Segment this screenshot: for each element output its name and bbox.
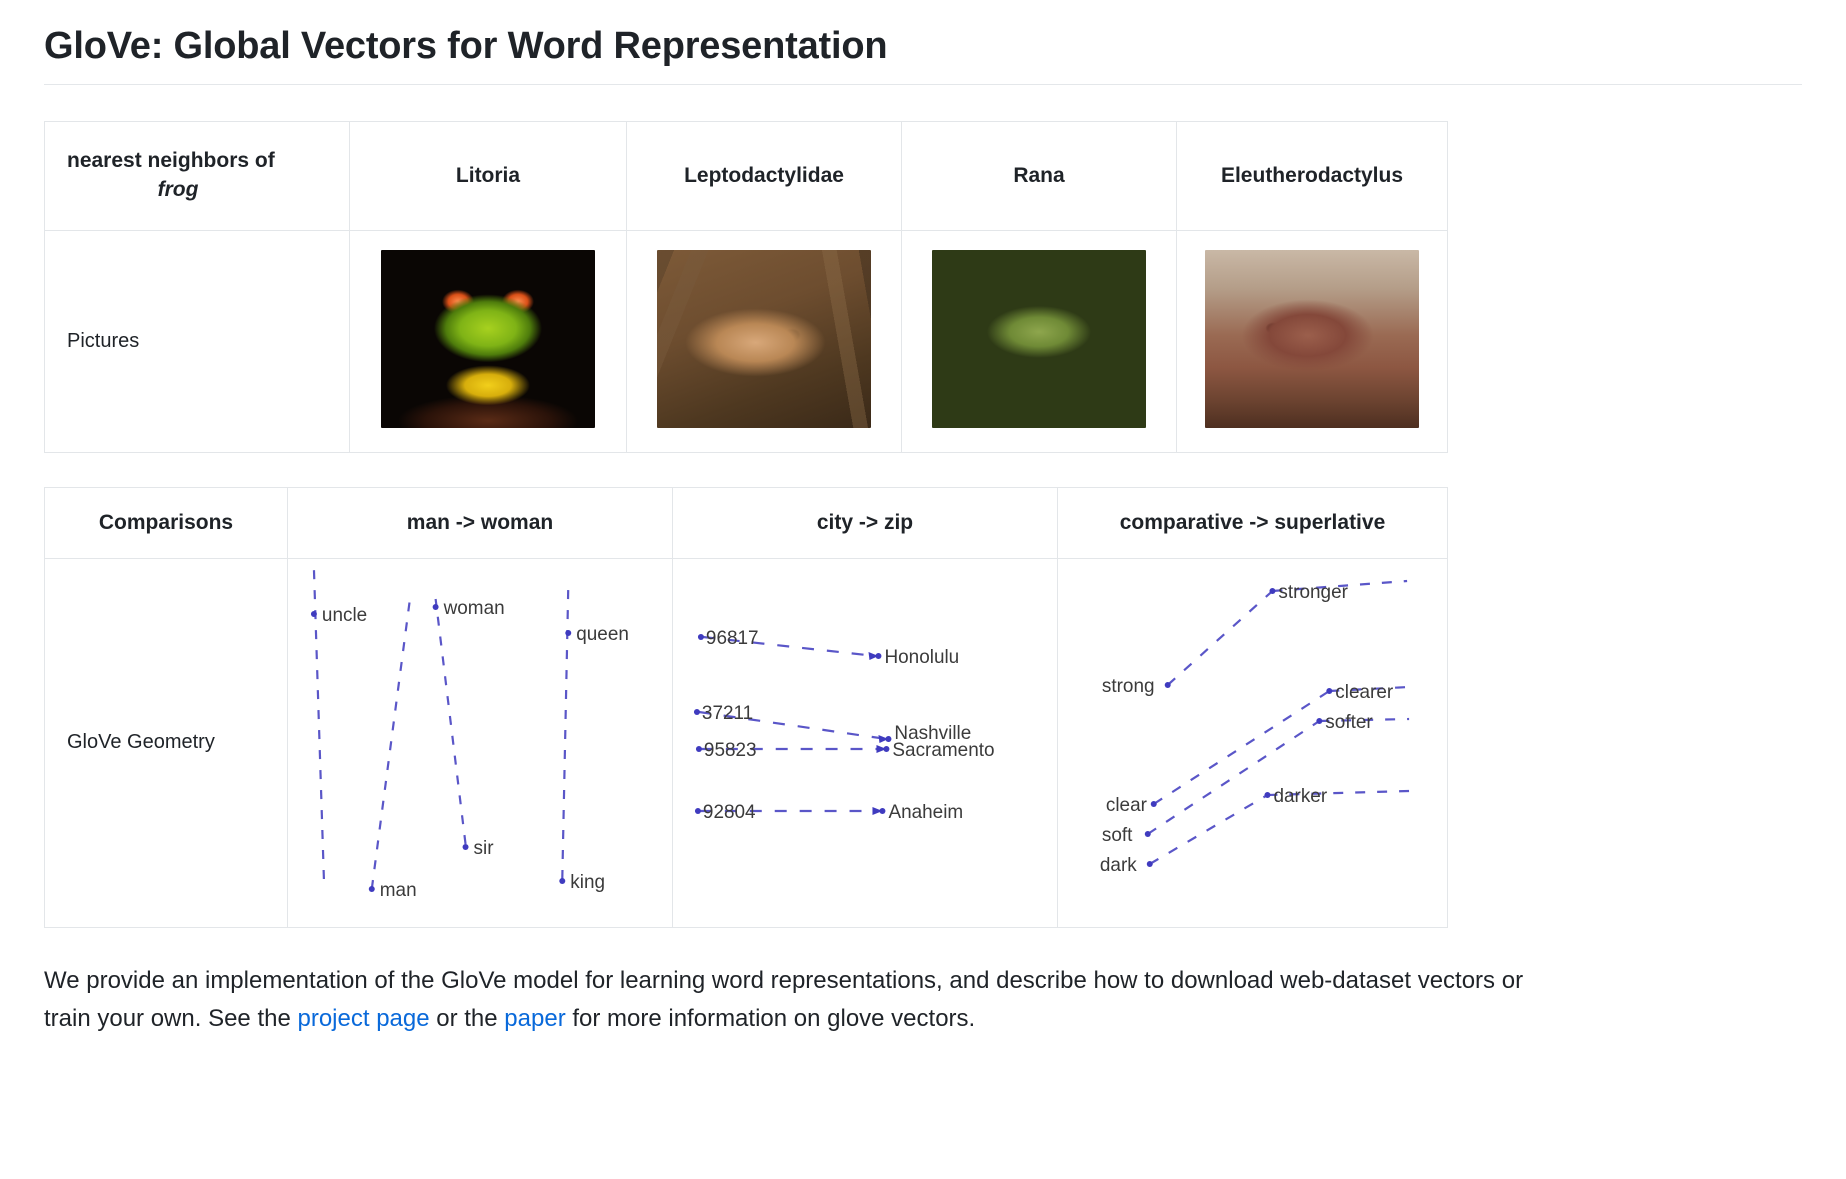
- project-page-link[interactable]: project page: [297, 1005, 429, 1032]
- label-zip-92804: 92804: [703, 802, 756, 823]
- page-container: GloVe: Global Vectors for Word Represent…: [0, 0, 1846, 1039]
- query-word-frog: frog: [67, 176, 339, 204]
- comparisons-header: Comparisons: [45, 487, 288, 558]
- column-header-comparative-superlative: comparative -> superlative: [1058, 487, 1448, 558]
- comparative-superlative-labels: stronger strong clearer softer clear sof…: [1100, 582, 1393, 876]
- table-row: Pictures: [45, 230, 1448, 452]
- label-city-anaheim: Anaheim: [888, 802, 963, 823]
- table-row: GloVe Geometry: [45, 558, 1448, 927]
- nearest-neighbors-label: nearest neighbors of: [67, 149, 275, 172]
- column-header-leptodactylidae: Leptodactylidae: [627, 121, 902, 230]
- label-uncle: uncle: [322, 605, 367, 626]
- man-woman-labels: uncle woman queen sir man king: [322, 598, 629, 901]
- row-label-pictures: Pictures: [45, 230, 350, 452]
- comparisons-table: Comparisons man -> woman city -> zip com…: [44, 487, 1448, 928]
- city-zip-labels: 96817 37211 95823 92804 Honolulu Nashvil…: [702, 628, 995, 823]
- column-header-man-woman: man -> woman: [288, 487, 673, 558]
- man-woman-points: [311, 604, 571, 892]
- picture-cell-eleutherodactylus: [1177, 230, 1448, 452]
- nearest-neighbors-table: nearest neighbors of frog Litoria Leptod…: [44, 121, 1448, 453]
- nearest-neighbors-header: nearest neighbors of frog: [45, 121, 350, 230]
- label-zip-96817: 96817: [706, 628, 759, 649]
- diagram-man-woman: uncle woman queen sir man king: [288, 558, 673, 927]
- label-clear: clear: [1106, 795, 1147, 816]
- column-header-rana: Rana: [902, 121, 1177, 230]
- litoria-frog-photo: [381, 250, 595, 428]
- comparative-superlative-plot: stronger strong clearer softer clear sof…: [1058, 559, 1447, 927]
- label-sir: sir: [474, 838, 494, 859]
- city-zip-plot: 96817 37211 95823 92804 Honolulu Nashvil…: [673, 559, 1057, 927]
- table-header-row: Comparisons man -> woman city -> zip com…: [45, 487, 1448, 558]
- label-clearer: clearer: [1335, 682, 1393, 703]
- column-header-litoria: Litoria: [350, 121, 627, 230]
- description-paragraph: We provide an implementation of the GloV…: [44, 962, 1544, 1040]
- diagram-comparative-superlative: stronger strong clearer softer clear sof…: [1058, 558, 1448, 927]
- label-queen: queen: [576, 624, 629, 645]
- label-stronger: stronger: [1278, 582, 1348, 603]
- label-softer: softer: [1325, 712, 1372, 733]
- picture-cell-leptodactylidae: [627, 230, 902, 452]
- page-title: GloVe: Global Vectors for Word Represent…: [44, 24, 1802, 70]
- label-strong: strong: [1102, 676, 1155, 697]
- label-dark: dark: [1100, 855, 1137, 876]
- table-header-row: nearest neighbors of frog Litoria Leptod…: [45, 121, 1448, 230]
- paper-link[interactable]: paper: [504, 1005, 565, 1032]
- label-city-sacramento: Sacramento: [892, 740, 994, 761]
- row-label-glove-geometry: GloVe Geometry: [45, 558, 288, 927]
- diagram-city-zip: 96817 37211 95823 92804 Honolulu Nashvil…: [673, 558, 1058, 927]
- picture-cell-rana: [902, 230, 1177, 452]
- comparative-superlative-points: [1145, 588, 1333, 867]
- rana-frog-photo: [932, 250, 1146, 428]
- label-zip-37211: 37211: [702, 703, 753, 724]
- picture-cell-litoria: [350, 230, 627, 452]
- label-soft: soft: [1102, 825, 1133, 846]
- label-zip-95823: 95823: [704, 740, 757, 761]
- label-darker: darker: [1273, 786, 1327, 807]
- column-header-eleutherodactylus: Eleutherodactylus: [1177, 121, 1448, 230]
- description-text-part-3: for more information on glove vectors.: [566, 1005, 976, 1032]
- label-woman: woman: [443, 598, 505, 619]
- column-header-city-zip: city -> zip: [673, 487, 1058, 558]
- man-woman-plot: uncle woman queen sir man king: [288, 559, 672, 927]
- label-man: man: [380, 880, 417, 901]
- city-zip-arrowheads: [868, 652, 888, 815]
- description-text-part-2: or the: [430, 1005, 505, 1032]
- title-divider: [44, 84, 1802, 85]
- label-city-honolulu: Honolulu: [884, 647, 959, 668]
- label-king: king: [570, 872, 605, 893]
- eleutherodactylus-frog-photo: [1205, 250, 1419, 428]
- leptodactylidae-frog-photo: [657, 250, 871, 428]
